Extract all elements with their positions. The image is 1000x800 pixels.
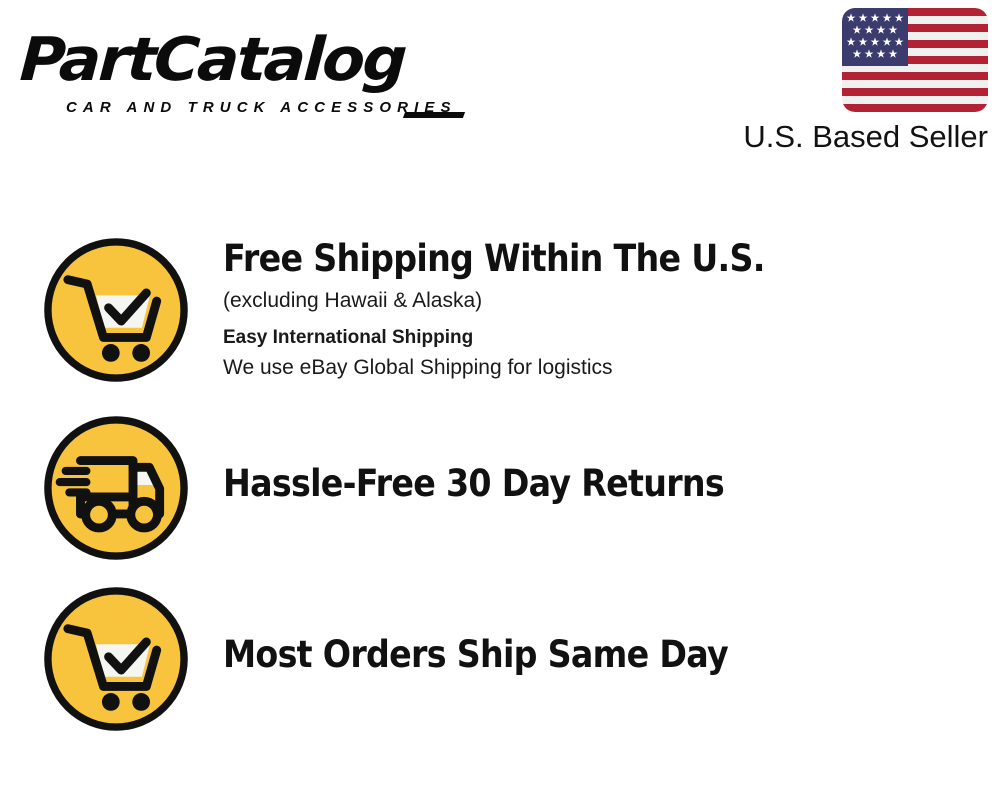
benefit-subtitle-international: Easy International Shipping: [223, 325, 982, 351]
shopping-cart-check-icon: [42, 236, 190, 384]
benefit-title: Free Shipping Within The U.S.: [223, 236, 906, 282]
benefit-title: Hassle-Free 30 Day Returns: [223, 461, 906, 507]
page-header: PartCatalog CAR AND TRUCK ACCESSORIES: [0, 0, 1000, 175]
us-based-seller-label: U.S. Based Seller: [698, 119, 988, 155]
benefit-text-block: Most Orders Ship Same Day: [190, 585, 982, 678]
benefit-row: Hassle-Free 30 Day Returns: [42, 414, 982, 566]
us-based-seller-badge: U.S. Based Seller: [698, 8, 988, 155]
benefit-subtitle-logistics: We use eBay Global Shipping for logistic…: [223, 352, 982, 383]
brand-wordmark: PartCatalog: [18, 24, 407, 96]
shopping-cart-check-icon: [42, 585, 190, 733]
benefit-row: Free Shipping Within The U.S. (excluding…: [42, 236, 982, 388]
brand-underline-flourish: [403, 112, 465, 118]
brand-logo[interactable]: PartCatalog CAR AND TRUCK ACCESSORIES: [22, 24, 492, 119]
benefit-title: Most Orders Ship Same Day: [223, 632, 906, 678]
benefit-text-block: Free Shipping Within The U.S. (excluding…: [190, 236, 982, 383]
benefit-subtitle-exclusion: (excluding Hawaii & Alaska): [223, 285, 982, 316]
us-flag-icon: [842, 8, 988, 112]
brand-tagline: CAR AND TRUCK ACCESSORIES: [66, 98, 457, 118]
benefit-row: Most Orders Ship Same Day: [42, 585, 982, 737]
delivery-truck-icon: [42, 414, 190, 562]
benefit-text-block: Hassle-Free 30 Day Returns: [190, 414, 982, 507]
